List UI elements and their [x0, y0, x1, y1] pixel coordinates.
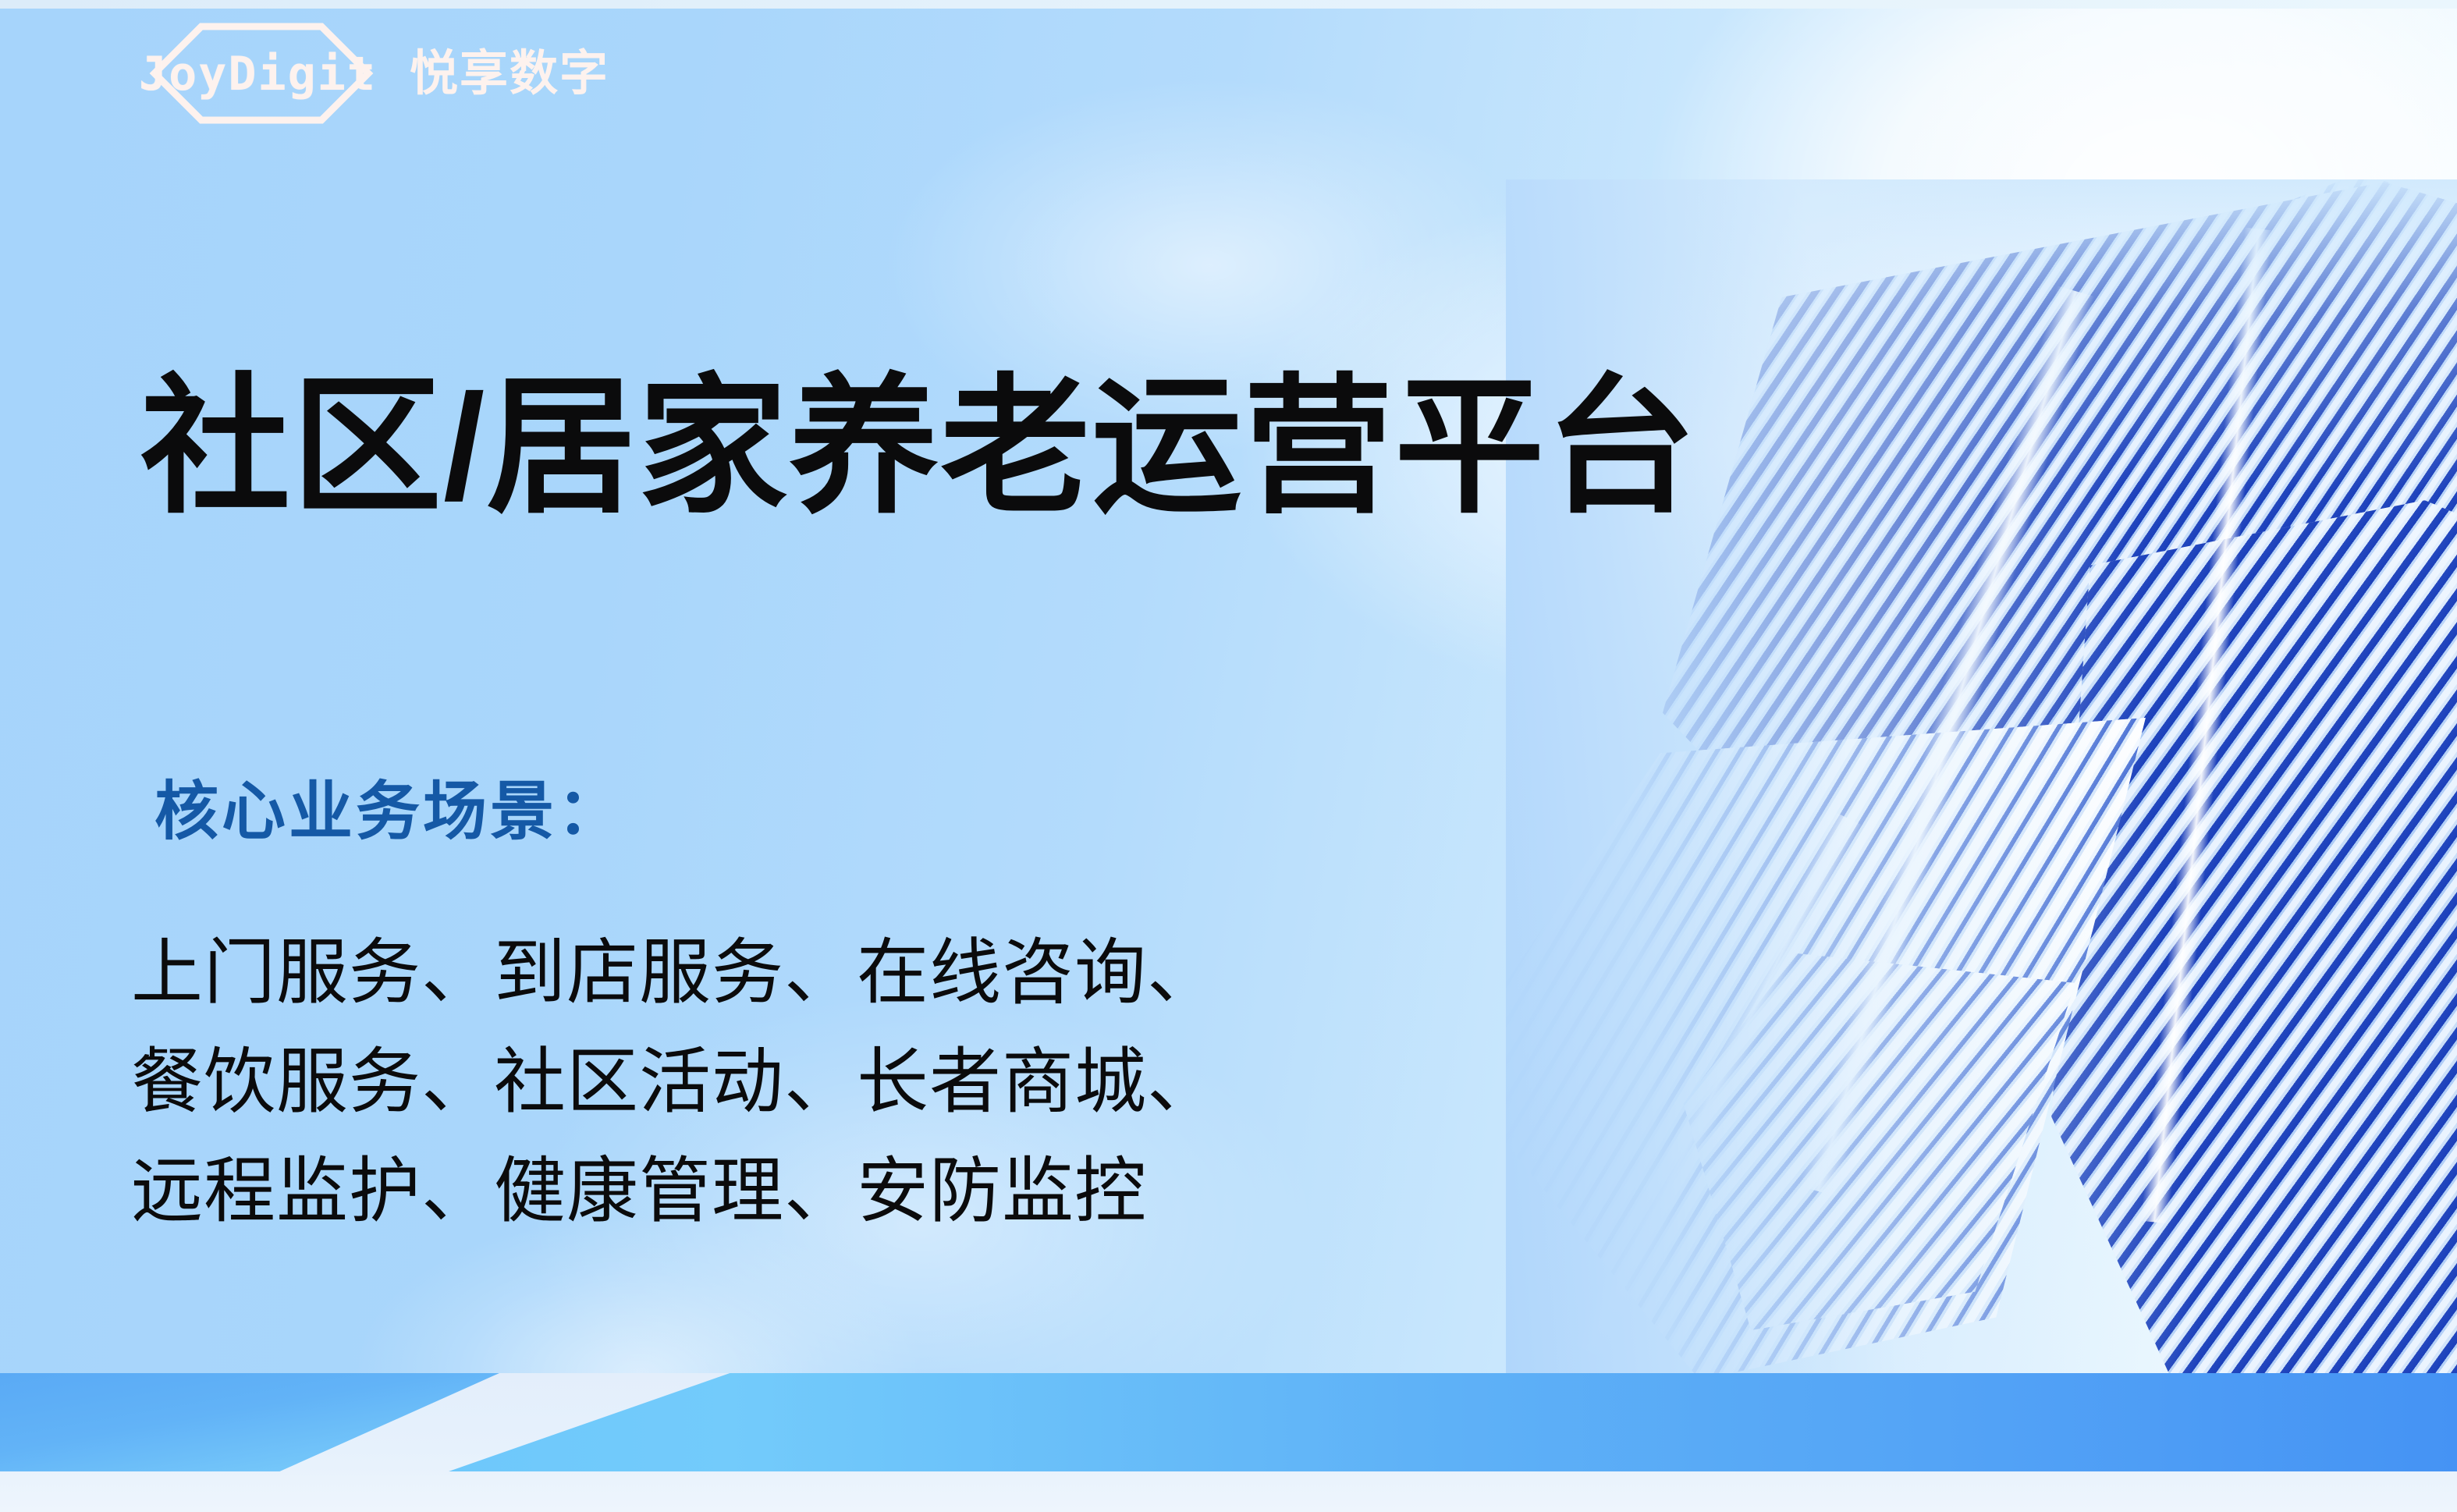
skyscraper-photo [1506, 179, 2457, 1381]
logo-wordmark: JoyDigit [139, 51, 377, 98]
top-edge-strip [0, 0, 2457, 9]
slide-canvas: JoyDigit 悦享数字 社区/居家养老运营平台 核心业务场景： 上门服务、到… [0, 0, 2457, 1512]
scenario-line: 上门服务、到店服务、在线咨询、 [131, 919, 1551, 1028]
footer-ribbon [0, 1373, 2457, 1512]
scenario-line: 餐饮服务、社区活动、长者商城、 [131, 1028, 1551, 1138]
section-heading: 核心业务场景： [154, 780, 624, 844]
footer-shape-right [449, 1373, 2457, 1471]
page-title: 社区/居家养老运营平台 [140, 366, 2091, 527]
scenario-line: 远程监护、健康管理、安防监控 [131, 1138, 1551, 1247]
logo-chinese-name: 悦享数字 [410, 50, 609, 98]
scenario-list: 上门服务、到店服务、在线咨询、 餐饮服务、社区活动、长者商城、 远程监护、健康管… [131, 919, 1551, 1246]
brand-logo: JoyDigit 悦享数字 [139, 23, 685, 125]
